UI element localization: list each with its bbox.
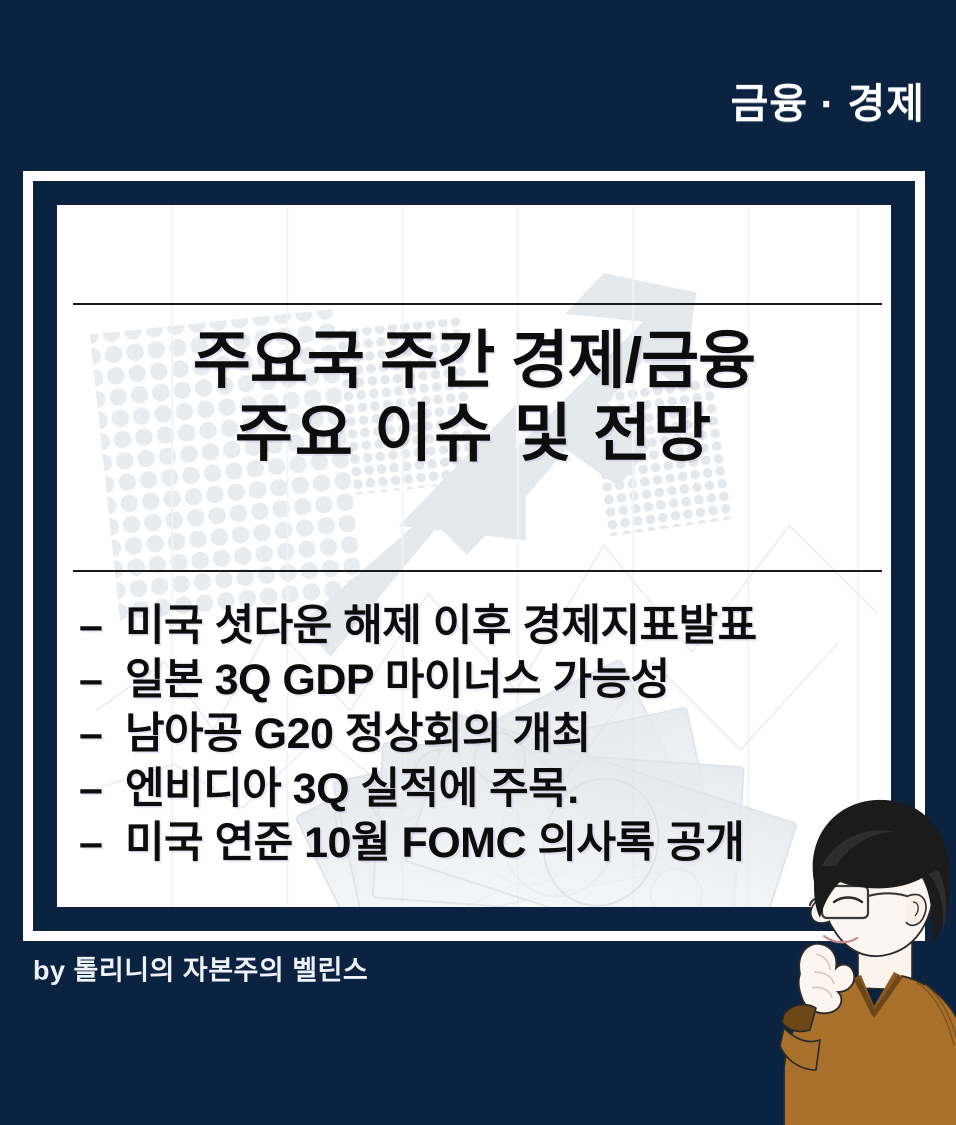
bullet-dash-icon: –	[79, 762, 125, 816]
bullet-list: – 미국 셧다운 해제 이후 경제지표발표 – 일본 3Q GDP 마이너스 가…	[79, 599, 881, 870]
list-item: – 미국 셧다운 해제 이후 경제지표발표	[79, 599, 881, 653]
list-item-label: 일본 3Q GDP 마이너스 가능성	[125, 653, 670, 707]
list-item-label: 미국 셧다운 해제 이후 경제지표발표	[125, 599, 757, 653]
page-title: 주요국 주간 경제/금융 주요 이슈 및 전망	[57, 325, 891, 471]
title-line-2: 주요 이슈 및 전망	[57, 398, 891, 471]
category-label: 금융 · 경제	[731, 84, 925, 125]
divider-top	[73, 303, 882, 305]
bullet-dash-icon: –	[79, 707, 125, 761]
title-line-1: 주요국 주간 경제/금융	[57, 325, 891, 398]
outer-white-frame: 주요국 주간 경제/금융 주요 이슈 및 전망 – 미국 셧다운 해제 이후 경…	[23, 171, 925, 941]
list-item-label: 미국 연준 10월 FOMC 의사록 공개	[125, 816, 744, 870]
list-item: – 미국 연준 10월 FOMC 의사록 공개	[79, 816, 881, 870]
bullet-dash-icon: –	[79, 816, 125, 870]
header-band: 금융 · 경제	[0, 0, 956, 172]
list-item-label: 엔비디아 3Q 실적에 주목.	[125, 762, 579, 816]
content-card: 주요국 주간 경제/금융 주요 이슈 및 전망 – 미국 셧다운 해제 이후 경…	[57, 205, 891, 907]
byline: by 톨리니의 자본주의 벨린스	[33, 949, 368, 988]
list-item: – 일본 3Q GDP 마이너스 가능성	[79, 653, 881, 707]
list-item: – 남아공 G20 정상회의 개최	[79, 707, 881, 761]
divider-middle	[73, 570, 882, 572]
poster-canvas: 금융 · 경제	[0, 0, 956, 1125]
bullet-dash-icon: –	[79, 653, 125, 707]
list-item: – 엔비디아 3Q 실적에 주목.	[79, 762, 881, 816]
inner-navy-frame: 주요국 주간 경제/금융 주요 이슈 및 전망 – 미국 셧다운 해제 이후 경…	[33, 181, 915, 931]
bullet-dash-icon: –	[79, 599, 125, 653]
list-item-label: 남아공 G20 정상회의 개최	[125, 707, 591, 761]
card-content: 주요국 주간 경제/금융 주요 이슈 및 전망 – 미국 셧다운 해제 이후 경…	[57, 205, 891, 907]
